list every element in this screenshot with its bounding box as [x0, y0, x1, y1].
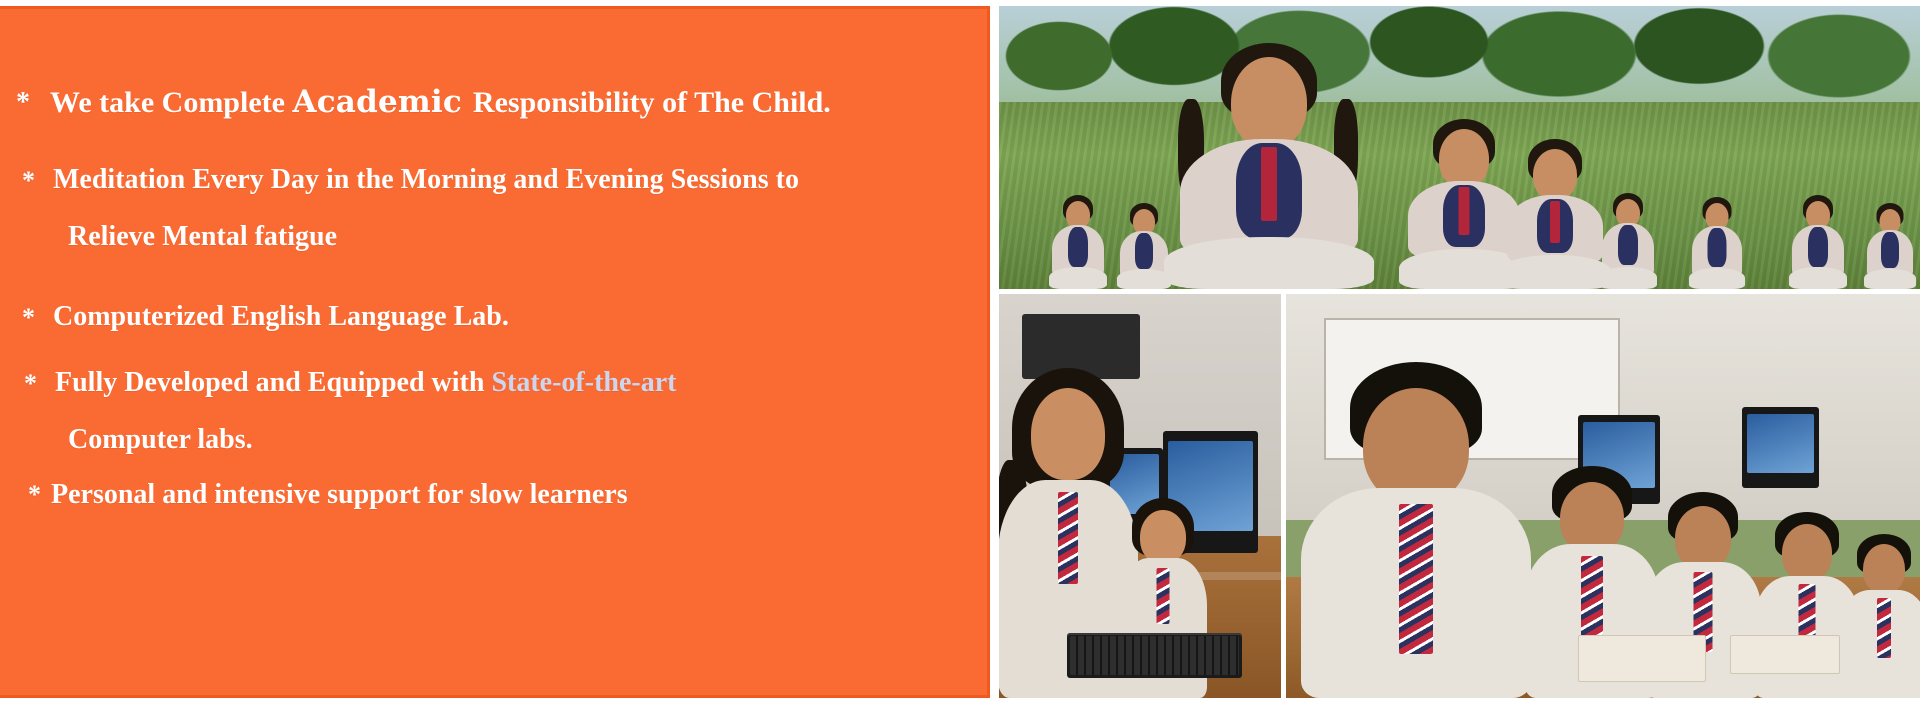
feature-text-segment-2: Academic — [292, 84, 472, 120]
student-figure — [1864, 201, 1916, 289]
computer-lab-girl-photo — [999, 294, 1281, 698]
open-book — [1578, 635, 1707, 681]
feature-text-state-of-the-art-highlight: State-of-the-art — [491, 367, 676, 398]
tree-line — [999, 6, 1920, 114]
asterisk-bullet-icon: * — [22, 164, 35, 194]
features-list: * We take Complete Academic Responsibili… — [0, 9, 990, 695]
list-item-english-language-lab: * Computerized English Language Lab. — [22, 301, 982, 332]
monitor — [1742, 407, 1818, 488]
feature-text-meditation-line1: Meditation Every Day in the Morning and … — [53, 164, 799, 195]
list-item-meditation-sessions: * Meditation Every Day in the Morning an… — [22, 164, 982, 253]
feature-text-segment-3: Responsibility of The Child. — [473, 86, 831, 119]
student-figure — [1117, 201, 1171, 289]
student-figure — [1049, 193, 1107, 289]
student-figure-foreground — [1164, 43, 1374, 289]
student-behind — [1838, 534, 1920, 698]
asterisk-bullet-icon: * — [22, 301, 35, 331]
student-figure — [1689, 195, 1745, 289]
open-book — [1730, 635, 1840, 673]
feature-text-meditation-line2: Relieve Mental fatigue — [68, 221, 982, 252]
feature-text-english-language-lab: Computerized English Language Lab. — [53, 301, 509, 332]
feature-text-computer-labs-line2: Computer labs. — [68, 424, 984, 455]
list-item-slow-learner-support: * Personal and intensive support for slo… — [28, 479, 988, 510]
feature-text-computer-labs-plain: Fully Developed and Equipped with — [55, 367, 491, 398]
asterisk-bullet-icon: * — [24, 367, 37, 397]
meditation-lawn-photo — [999, 6, 1920, 289]
computer-lab-boys-photo — [1286, 294, 1920, 698]
boy-at-computer — [1296, 362, 1536, 698]
features-panel: * We take Complete Academic Responsibili… — [0, 6, 990, 698]
list-item-academic-responsibility: * We take Complete Academic Responsibili… — [16, 85, 976, 120]
feature-text-segment-1: We take Complete — [50, 86, 292, 119]
student-figure — [1499, 139, 1611, 289]
list-item-computer-labs: * Fully Developed and Equipped with Stat… — [24, 367, 984, 456]
feature-text-academic-responsibility: We take Complete Academic Responsibility… — [50, 85, 831, 120]
keyboard — [1067, 633, 1242, 677]
asterisk-bullet-icon: * — [16, 85, 30, 117]
photo-collage — [999, 6, 1920, 698]
student-figure — [1789, 193, 1847, 289]
asterisk-bullet-icon: * — [28, 479, 41, 508]
feature-text-computer-labs-line1: Fully Developed and Equipped with State-… — [55, 367, 676, 398]
promo-banner: * We take Complete Academic Responsibili… — [0, 0, 1920, 705]
feature-text-slow-learner-support: Personal and intensive support for slow … — [51, 479, 628, 510]
